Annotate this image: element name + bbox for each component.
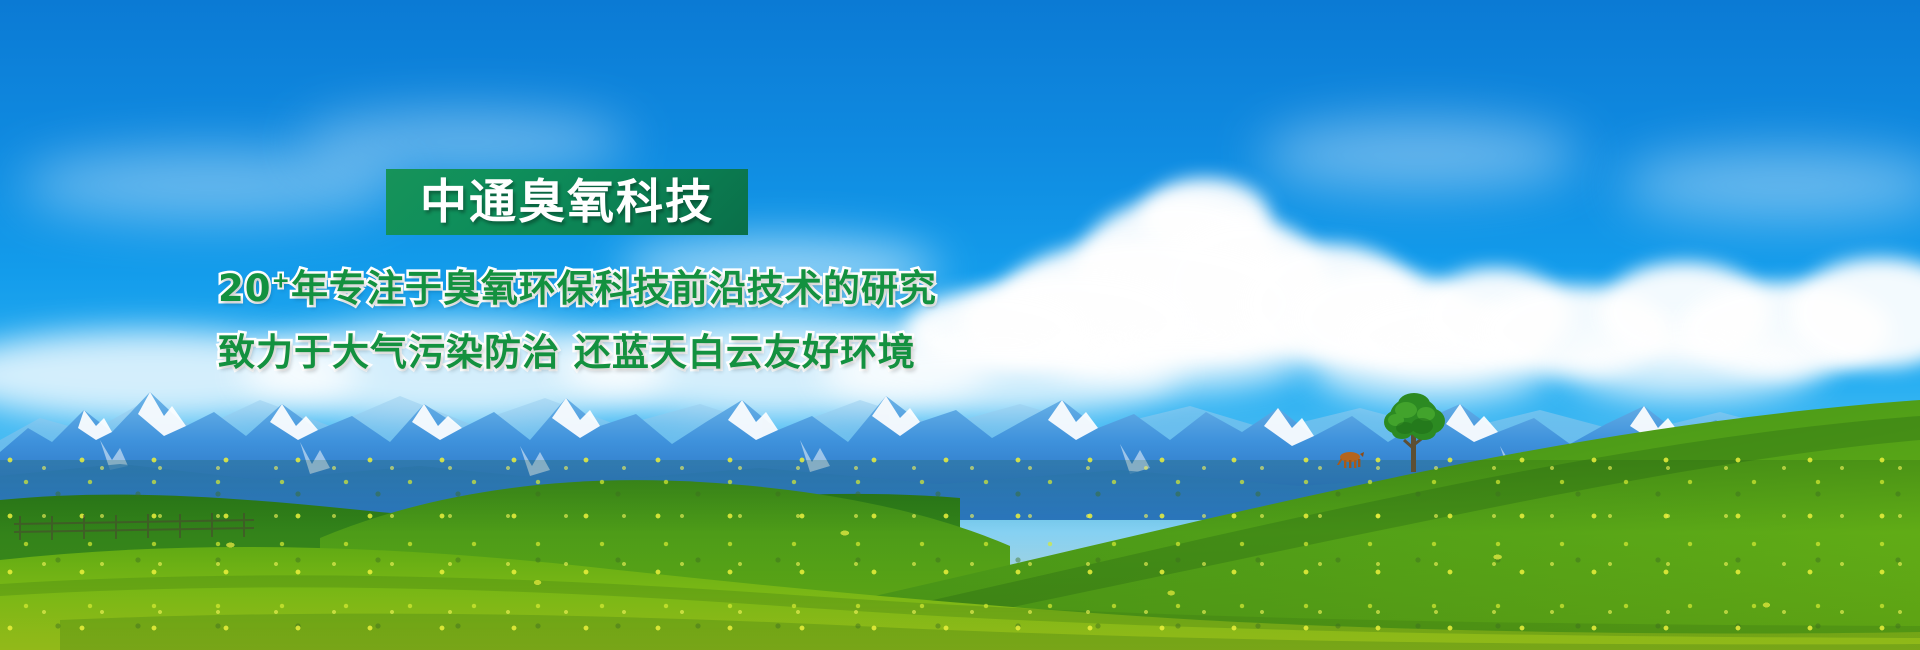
grass-hills	[0, 370, 1920, 650]
tree-icon	[1372, 388, 1458, 474]
tagline-line-1-rest: 年专注于臭氧环保科技前沿技术的研究	[291, 267, 937, 310]
cloud-wisp	[300, 112, 630, 172]
hero-banner: 中通臭氧科技 20+年专注于臭氧环保科技前沿技术的研究 致力于大气污染防治 还蓝…	[0, 0, 1920, 650]
fence-icon	[14, 510, 254, 546]
cow-icon	[1332, 450, 1366, 470]
company-badge: 中通臭氧科技	[386, 169, 748, 235]
company-name: 中通臭氧科技	[420, 179, 714, 226]
tagline-years-plus: +	[272, 269, 291, 294]
cloud-wisp	[1260, 120, 1580, 190]
tagline-years-number: 20	[218, 267, 272, 310]
tagline-line-2: 致力于大气污染防治 还蓝天白云友好环境	[218, 322, 916, 376]
tagline-line-1: 20+年专注于臭氧环保科技前沿技术的研究	[218, 258, 937, 312]
